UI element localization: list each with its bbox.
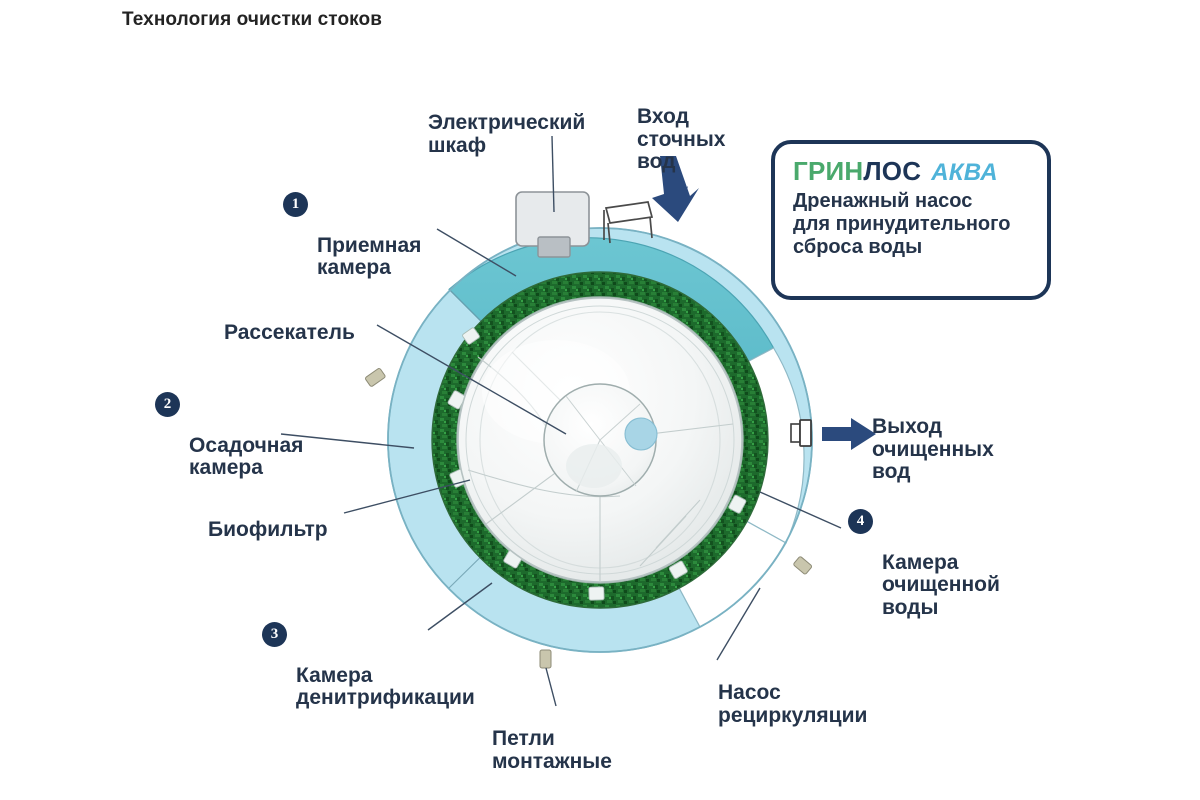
label-settling-chamber-text: Осадочная камера [189, 434, 303, 479]
label-settling-chamber: 2 Осадочная камера [155, 390, 303, 480]
label-recirculation-pump-text: Насос рециркуляции [718, 681, 867, 726]
label-biofilter: Биофильтр [208, 497, 328, 542]
label-electrical-cabinet-text: Электрический шкаф [428, 111, 585, 156]
label-receiving-chamber: 1 Приемная камера [283, 190, 421, 280]
label-clean-water-outlet-text: Выход очищенных вод [872, 415, 994, 483]
label-wastewater-inlet: Вход сточных вод [637, 84, 725, 174]
badge-1: 1 [283, 192, 308, 217]
label-recirculation-pump: Насос рециркуляции [718, 660, 867, 727]
label-mounting-loops-text: Петли монтажные [492, 727, 612, 772]
brand-logo-los: ЛОС [863, 156, 921, 186]
hub-inner-disc [566, 444, 622, 488]
label-clean-water-outlet: Выход очищенных вод [872, 394, 994, 484]
badge-3: 3 [262, 622, 287, 647]
label-splitter-text: Рассекатель [224, 321, 355, 344]
label-denitrification-chamber-text: Камера денитрификации [296, 664, 475, 709]
label-clean-water-chamber-text: Камера очищенной воды [882, 551, 1000, 619]
label-splitter: Рассекатель [224, 300, 355, 345]
label-receiving-chamber-text: Приемная камера [317, 234, 421, 279]
brand-callout-box: ГРИНЛОСАКВА Дренажный насос для принудит… [771, 140, 1051, 300]
label-denitrification-chamber: 3 Камера денитрификации [262, 620, 475, 710]
badge-4: 4 [848, 509, 873, 534]
brand-logo-grin: ГРИН [793, 156, 863, 186]
label-mounting-loops: Петли монтажные [492, 706, 612, 773]
label-wastewater-inlet-text: Вход сточных вод [637, 105, 725, 173]
badge-2: 2 [155, 392, 180, 417]
brand-logo: ГРИНЛОСАКВА [793, 156, 1031, 187]
outlet-arrow-icon [822, 418, 876, 450]
brand-logo-aqua: АКВА [931, 159, 998, 186]
label-electrical-cabinet: Электрический шкаф [428, 90, 585, 157]
outlet-nozzle-icon [791, 420, 811, 446]
brand-description: Дренажный насос для принудительного сбро… [793, 190, 1031, 260]
diagram-stage: Технология очистки стоков [0, 0, 1200, 800]
label-clean-water-chamber: 4 Камера очищенной воды [848, 507, 1000, 619]
label-biofilter-text: Биофильтр [208, 518, 328, 541]
splitter-port-icon [625, 418, 657, 450]
